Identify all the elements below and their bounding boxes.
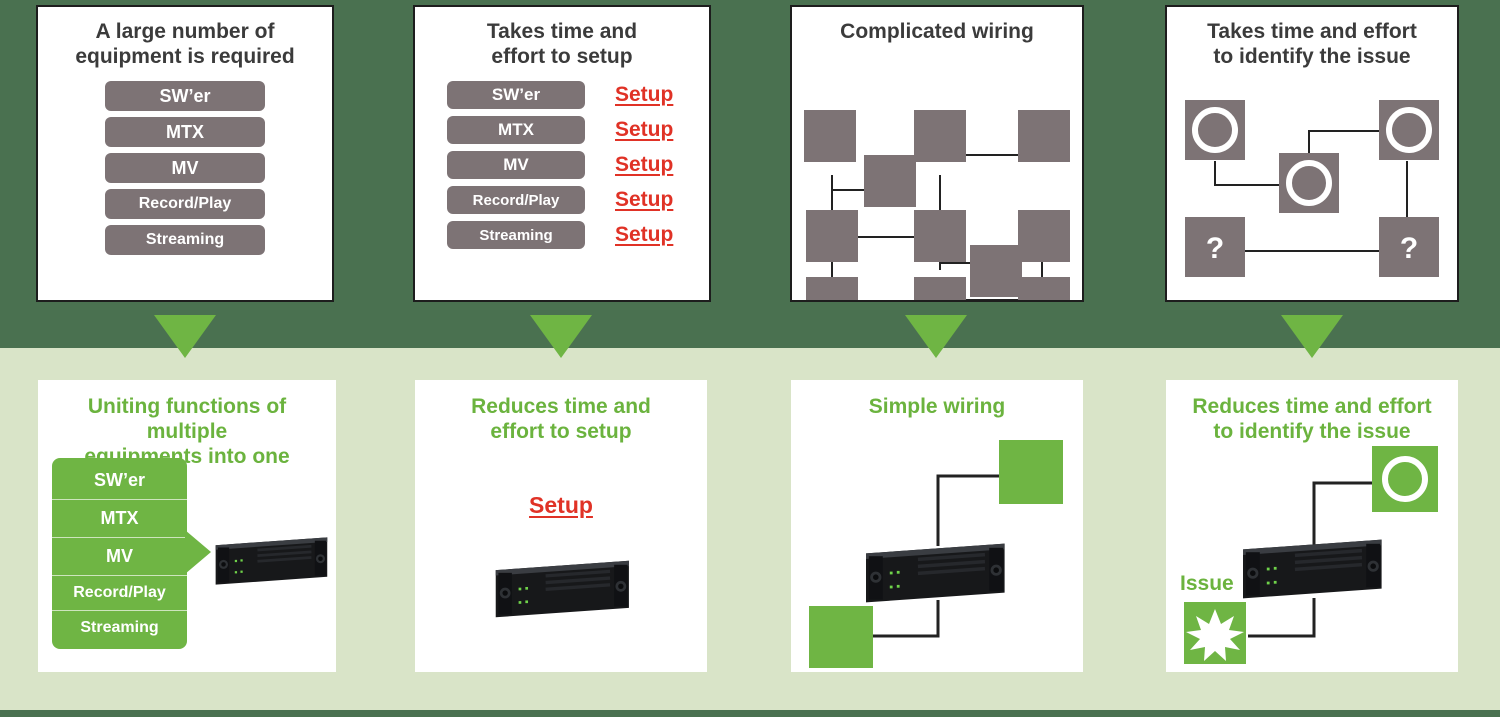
- title-line: Reduces time and effort: [1174, 394, 1450, 419]
- simple-wiring-diagram: [791, 428, 1083, 668]
- function-pill: SW’er: [447, 81, 585, 109]
- title-line: A large number of: [48, 19, 322, 44]
- card-title: Reduces time and effort to identify the …: [1166, 380, 1458, 444]
- problem-card-setup-effort: Takes time and effort to setup SW’er Set…: [413, 5, 711, 302]
- title-line: equipment is required: [48, 44, 322, 69]
- title-line: Simple wiring: [799, 394, 1075, 419]
- merge-arrow-icon: [185, 530, 211, 574]
- setup-row: MTX Setup: [447, 116, 709, 144]
- endpoint-box: [809, 606, 873, 668]
- setup-link[interactable]: Setup: [615, 223, 673, 247]
- function-pill: MTX: [105, 117, 265, 147]
- issue-located-diagram: Issue: [1166, 438, 1458, 668]
- function-pill: MV: [105, 153, 265, 183]
- setup-row: Record/Play Setup: [447, 186, 709, 214]
- title-line: Uniting functions of multiple: [46, 394, 328, 444]
- title-line: Reduces time and: [423, 394, 699, 419]
- transition-arrow-3: [905, 315, 967, 358]
- function-pill: Record/Play: [447, 186, 585, 214]
- problem-card-identify-issue: Takes time and effort to identify the is…: [1165, 5, 1459, 302]
- function-item: SW’er: [52, 462, 187, 500]
- function-pill: Streaming: [447, 221, 585, 249]
- setup-row: SW’er Setup: [447, 81, 709, 109]
- setup-link-wrapper: Setup: [415, 492, 707, 519]
- problem-card-equipment-count: A large number of equipment is required …: [36, 5, 334, 302]
- transition-arrow-2: [530, 315, 592, 358]
- setup-row: MV Setup: [447, 151, 709, 179]
- unknown-marker: ?: [1400, 232, 1418, 265]
- transition-arrow-4: [1281, 315, 1343, 358]
- function-pill: MTX: [447, 116, 585, 144]
- unified-function-box: SW’er MTX MV Record/Play Streaming: [52, 458, 187, 649]
- issue-identification-diagram: ? ?: [1167, 65, 1457, 300]
- endpoint-box: [999, 440, 1063, 504]
- card-title: Simple wiring: [791, 380, 1083, 419]
- title-line: effort to setup: [425, 44, 699, 69]
- status-ok-box: [1372, 446, 1438, 512]
- bottom-rule: [0, 710, 1500, 717]
- function-pill: MV: [447, 151, 585, 179]
- card-title: A large number of equipment is required: [38, 7, 332, 69]
- setup-row: Streaming Setup: [447, 221, 709, 249]
- function-pill: SW’er: [105, 81, 265, 111]
- solution-card-identify-issue: Reduces time and effort to identify the …: [1166, 380, 1458, 672]
- transition-arrow-1: [154, 315, 216, 358]
- setup-link[interactable]: Setup: [615, 83, 673, 107]
- setup-row-list: SW’er Setup MTX Setup MV Setup Record/Pl…: [415, 81, 709, 249]
- card-title: Reduces time and effort to setup: [415, 380, 707, 444]
- title-line: effort to setup: [423, 419, 699, 444]
- function-pill-list: SW’er MTX MV Record/Play Streaming: [38, 81, 332, 255]
- function-item: Record/Play: [52, 576, 187, 611]
- solution-card-simple-wiring: Simple wiring: [791, 380, 1083, 672]
- rack-server-device: [210, 532, 334, 590]
- solution-card-reduced-setup: Reduces time and effort to setup Setup: [415, 380, 707, 672]
- rack-server-device: [489, 555, 637, 623]
- diagram-canvas: A large number of equipment is required …: [0, 0, 1500, 717]
- problem-card-complicated-wiring: Complicated wiring: [790, 5, 1084, 302]
- complicated-wiring-diagram: [792, 65, 1082, 300]
- solution-card-unified-functions: Uniting functions of multiple equipments…: [38, 380, 336, 672]
- function-pill: Streaming: [105, 225, 265, 255]
- card-title: Complicated wiring: [792, 7, 1082, 44]
- title-line: Takes time and effort: [1177, 19, 1447, 44]
- function-pill: Record/Play: [105, 189, 265, 219]
- function-item: Streaming: [52, 611, 187, 645]
- title-line: Takes time and: [425, 19, 699, 44]
- card-title: Takes time and effort to setup: [415, 7, 709, 69]
- card-title: Uniting functions of multiple equipments…: [38, 380, 336, 469]
- issue-label: Issue: [1180, 572, 1234, 595]
- card-title: Takes time and effort to identify the is…: [1167, 7, 1457, 69]
- unknown-marker: ?: [1206, 232, 1224, 265]
- function-item: MTX: [52, 500, 187, 538]
- setup-link[interactable]: Setup: [529, 492, 593, 518]
- title-line: Complicated wiring: [802, 19, 1072, 44]
- setup-link[interactable]: Setup: [615, 118, 673, 142]
- setup-link[interactable]: Setup: [615, 153, 673, 177]
- function-item: MV: [52, 538, 187, 576]
- setup-link[interactable]: Setup: [615, 188, 673, 212]
